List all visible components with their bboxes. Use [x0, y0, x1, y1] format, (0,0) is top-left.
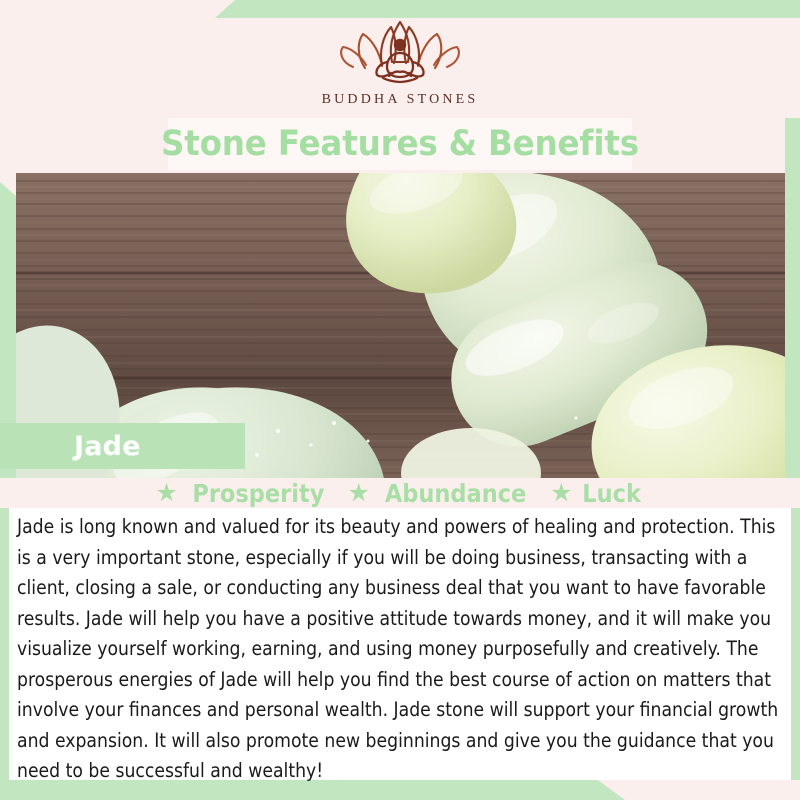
decor-left-green-band: [0, 182, 16, 422]
lotus-meditation-icon: [325, 18, 475, 90]
description-panel: Jade is long known and valued for its be…: [9, 508, 791, 780]
keyword-prosperity: ★ Prosperity: [155, 479, 331, 508]
keyword-abundance: ★ Abundance: [347, 479, 534, 508]
decor-text-left-rail: [0, 508, 9, 780]
keyword-row: ★ Prosperity ★ Abundance ★ Luck: [0, 478, 800, 508]
brand-header: BUDDHA STONES: [0, 18, 800, 118]
page-title: Stone Features & Benefits: [161, 124, 639, 164]
decor-text-right-rail: [791, 508, 800, 780]
star-icon: ★: [550, 481, 572, 506]
keyword-label: Abundance: [385, 479, 526, 508]
stone-name-label: Jade: [74, 431, 141, 462]
keyword-label: Prosperity: [192, 479, 324, 508]
decor-top-green-band: [215, 0, 800, 18]
title-banner: Stone Features & Benefits: [168, 118, 632, 170]
infographic-page: BUDDHA STONES Stone Features & Benefits: [0, 0, 800, 800]
keyword-label: Luck: [583, 479, 642, 508]
description-text: Jade is long known and valued for its be…: [17, 512, 785, 787]
star-icon: ★: [155, 481, 177, 506]
brand-name: BUDDHA STONES: [322, 92, 479, 108]
keyword-luck: ★ Luck: [550, 479, 645, 508]
stone-name-badge: Jade: [0, 423, 245, 469]
star-icon: ★: [347, 481, 369, 506]
